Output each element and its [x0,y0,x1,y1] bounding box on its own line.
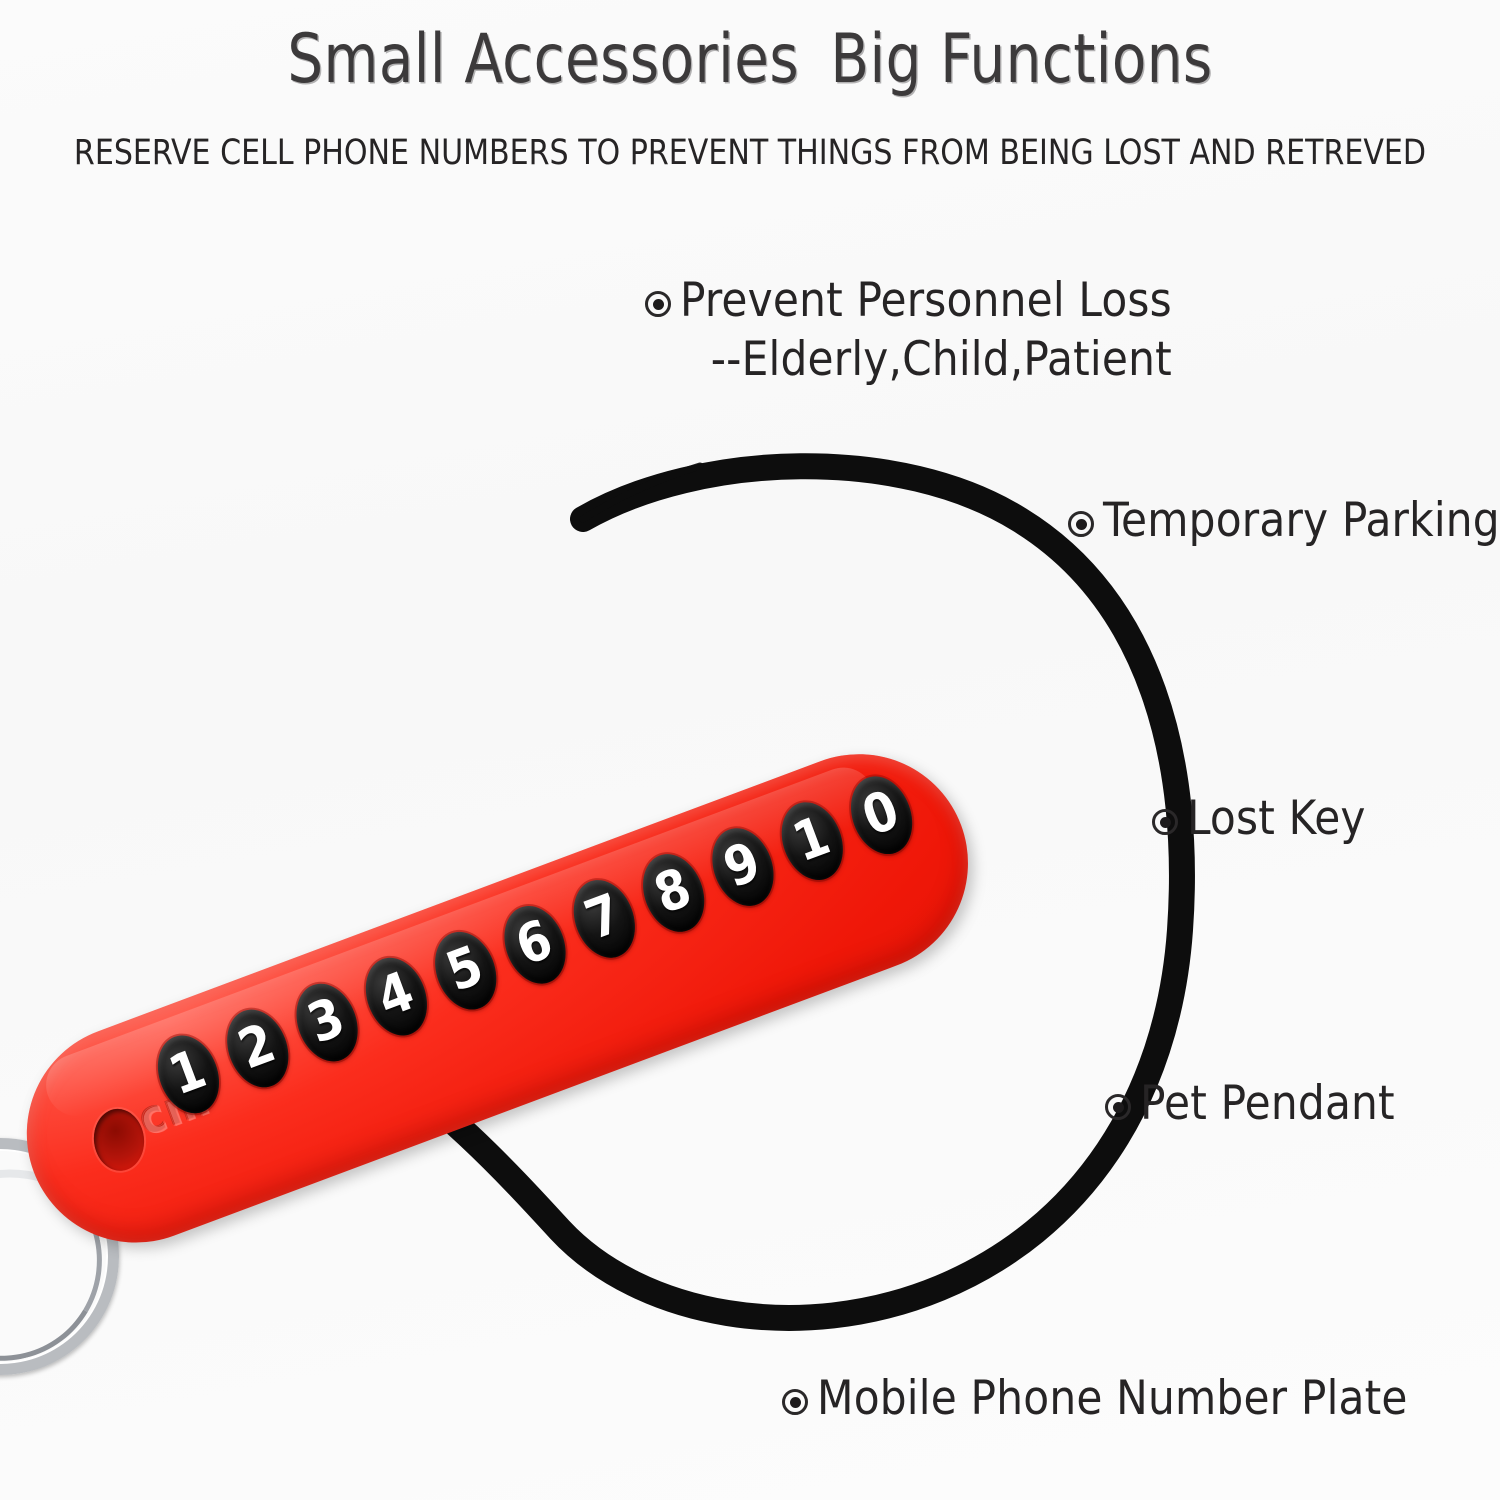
digit-label: 5 [440,938,490,1000]
feature-temporary-parking: Temporary Parking [1068,495,1500,548]
digit-label: 7 [579,886,629,948]
bullseye-bullet-icon [1105,1094,1131,1120]
page-title-part-1: Small Accessories [287,20,799,99]
bullseye-bullet-icon [645,291,671,317]
digit-label: 6 [509,912,559,974]
bullseye-bullet-icon [1152,809,1178,835]
digit-label: 9 [717,834,767,896]
page-title-part-2: Big Functions [830,20,1212,99]
feature-label: Pet Pendant [1140,1078,1395,1131]
digit-label: 3 [301,990,351,1052]
feature-label: Prevent Personnel Loss [680,275,1172,328]
feature-prevent-personnel-loss: Prevent Personnel Loss --Elderly,Child,P… [645,275,1172,386]
feature-label: Temporary Parking [1103,495,1500,548]
feature-mobile-phone-number-plate: Mobile Phone Number Plate [782,1373,1408,1426]
feature-pet-pendant: Pet Pendant [1105,1078,1395,1131]
page-subtitle: RESERVE CELL PHONE NUMBERS TO PREVENT TH… [34,133,1467,173]
bullseye-bullet-icon [1068,511,1094,537]
digit-label: 2 [232,1016,282,1078]
number-tag: cm 12345678910 [0,437,1007,1257]
digit-label: 1 [163,1041,213,1103]
feature-label: Mobile Phone Number Plate [817,1373,1408,1426]
digit-label: 4 [371,964,421,1026]
digit-label: 1 [787,808,837,870]
feature-label: Lost Key [1187,793,1366,846]
feature-sublabel: --Elderly,Child,Patient [680,334,1172,387]
page-title: Small AccessoriesBig Functions [60,26,1440,94]
product-image: cm 12345678910 [0,660,1060,1300]
digit-label: 0 [856,782,906,844]
product-infographic: Small AccessoriesBig Functions RESERVE C… [0,0,1500,1500]
feature-lost-key: Lost Key [1152,793,1366,846]
bullseye-bullet-icon [782,1389,808,1415]
digit-label: 8 [648,860,698,922]
